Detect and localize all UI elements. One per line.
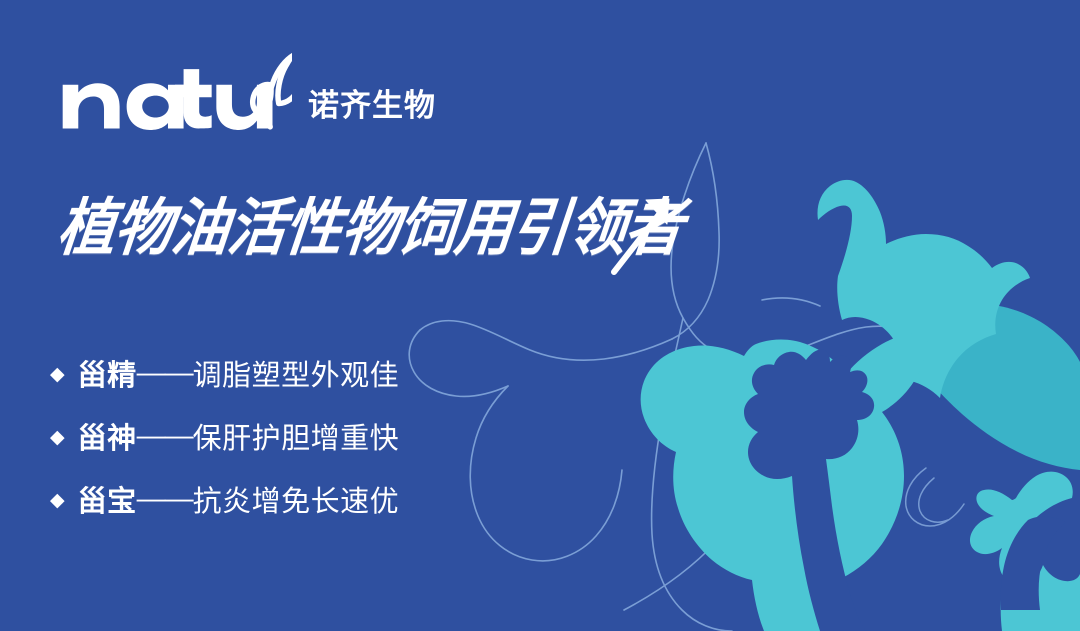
product-name: 甾神 [78, 415, 137, 457]
pig-head-silhouette [818, 180, 1031, 398]
diamond-bullet-icon: ◆ [50, 428, 65, 447]
product-name: 甾宝 [78, 478, 137, 520]
diamond-bullet-icon: ◆ [50, 365, 65, 384]
pig-head-mass [641, 332, 928, 631]
cattle-silhouette [900, 304, 1080, 470]
product-benefit: 调脂塑型外观佳 [193, 352, 400, 394]
product-name: 甾精 [78, 352, 137, 394]
poster-canvas: 诺齐生物 植物油活性物饲用引领者 ◆ 甾精 —— 调脂塑型外观佳 ◆ 甾神 ——… [0, 0, 1080, 631]
em-dash: —— [137, 357, 193, 390]
em-dash: —— [137, 420, 193, 453]
product-benefit: 抗炎增免长速优 [193, 478, 400, 520]
em-dash: —— [137, 483, 193, 516]
product-list: ◆ 甾精 —— 调脂塑型外观佳 ◆ 甾神 —— 保肝护胆增重快 ◆ 甾宝 —— … [50, 352, 399, 520]
brand-logo: 诺齐生物 [58, 52, 436, 130]
company-name-cn: 诺齐生物 [308, 90, 436, 130]
list-item: ◆ 甾精 —— 调脂塑型外观佳 [50, 352, 399, 394]
list-item: ◆ 甾神 —— 保肝护胆增重快 [50, 415, 399, 457]
shrimp-silhouette [970, 472, 1080, 631]
line-tendrils [906, 468, 964, 526]
rooster-silhouette [744, 349, 874, 631]
natuye-wordmark [58, 52, 292, 130]
page-title: 植物油活性物饲用引领者 [55, 196, 686, 261]
silhouette-notch [1001, 516, 1066, 610]
diamond-bullet-icon: ◆ [50, 491, 65, 510]
product-benefit: 保肝护胆增重快 [193, 415, 400, 457]
list-item: ◆ 甾宝 —— 抗炎增免长速优 [50, 478, 399, 520]
